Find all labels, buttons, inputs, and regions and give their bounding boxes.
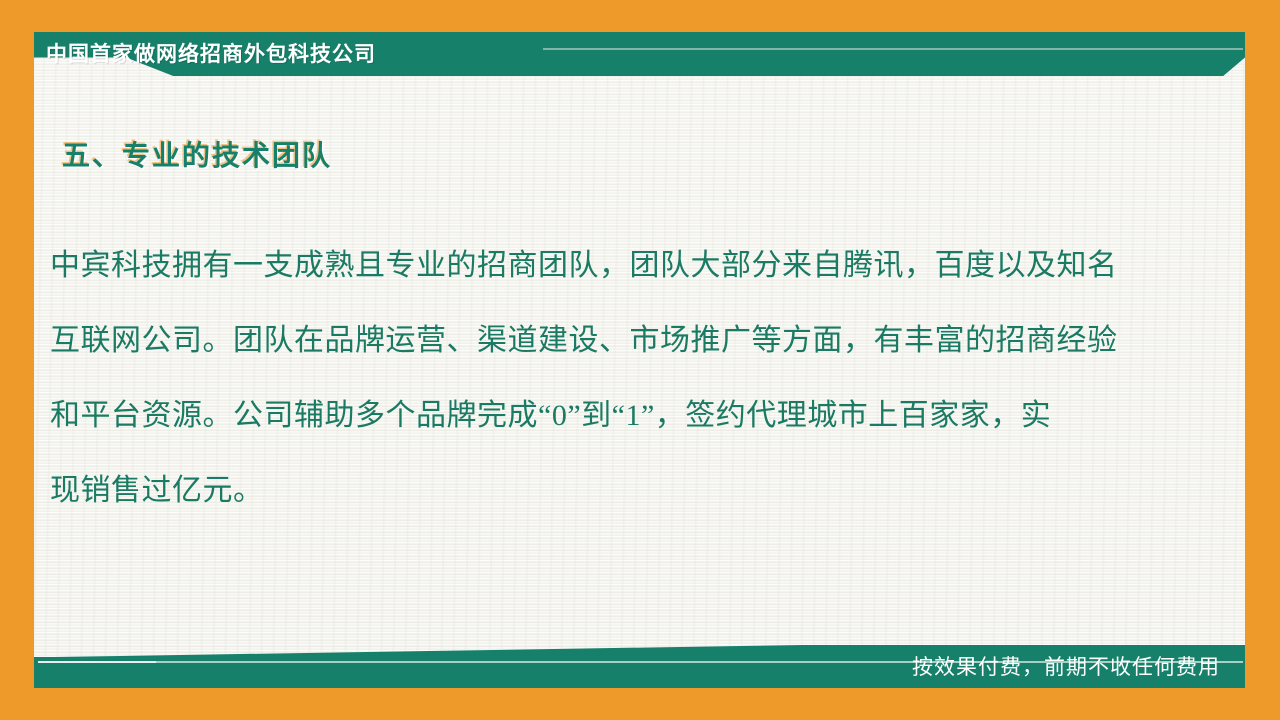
body-line: 和平台资源。公司辅助多个品牌完成“0”到“1”，签约代理城市上百家家，实 xyxy=(50,378,1185,453)
body-line: 互联网公司。团队在品牌运营、渠道建设、市场推广等方面，有丰富的招商经验 xyxy=(50,303,1185,378)
footer-tagline: 按效果付费，前期不收任何费用 xyxy=(912,648,1220,684)
header-title: 中国首家做网络招商外包科技公司 xyxy=(46,34,376,72)
header-divider-line xyxy=(543,48,1243,50)
section-title: 五、专业的技术团队 xyxy=(62,134,332,174)
body-line: 中宾科技拥有一支成熟且专业的招商团队，团队大部分来自腾讯，百度以及知名 xyxy=(50,228,1185,303)
body-paragraph: 中宾科技拥有一支成熟且专业的招商团队，团队大部分来自腾讯，百度以及知名 互联网公… xyxy=(50,228,1185,528)
footer-divider-highlight xyxy=(38,661,156,663)
body-line: 现销售过亿元。 xyxy=(50,453,1185,528)
slide-canvas: 中国首家做网络招商外包科技公司 五、专业的技术团队 中宾科技拥有一支成熟且专业的… xyxy=(0,0,1280,720)
